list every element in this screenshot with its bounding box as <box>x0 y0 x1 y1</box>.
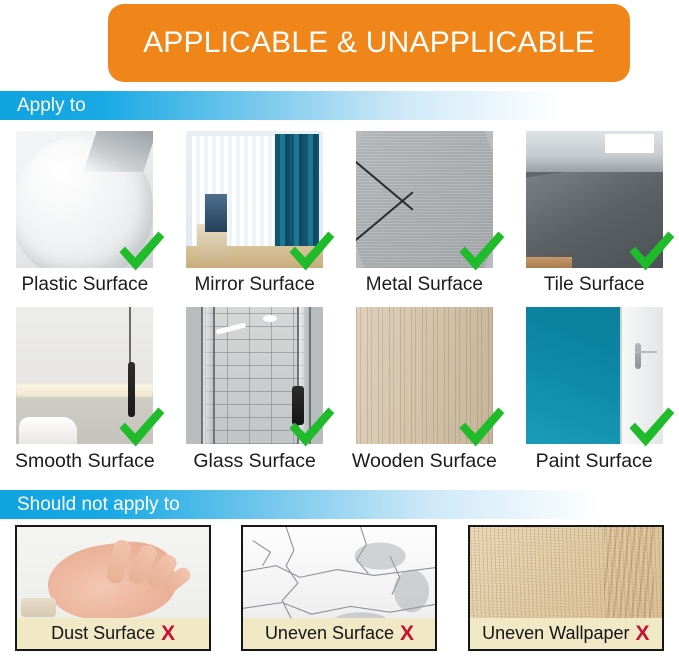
apply-item-label: Smooth Surface <box>15 450 155 473</box>
apply-item-label: Glass Surface <box>193 450 315 473</box>
red-x-icon: X <box>636 623 650 644</box>
should-not-apply-label: Should not apply to <box>0 494 180 516</box>
tile-wrap <box>526 131 663 268</box>
metal-surface-image <box>356 131 493 268</box>
mirror-surface-image <box>186 131 323 268</box>
should-not-apply-section-bar: Should not apply to <box>0 490 600 519</box>
apply-grid-row-1: Plastic Surface Mirror Surface <box>0 131 679 296</box>
apply-item-label: Tile Surface <box>544 274 645 296</box>
apply-item-tile-surface: Tile Surface <box>514 131 674 296</box>
apply-item-mirror-surface: Mirror Surface <box>175 131 335 296</box>
page-title: APPLICABLE & UNAPPLICABLE <box>143 26 595 60</box>
not-apply-item-label: Uneven Wallpaper <box>482 623 629 644</box>
apply-item-label: Metal Surface <box>366 274 483 296</box>
not-apply-item-uneven-wallpaper: Uneven Wallpaper X <box>468 525 664 651</box>
tile-wrap <box>356 131 493 268</box>
not-apply-grid: Dust Surface X <box>0 525 679 651</box>
plastic-surface-image <box>16 131 153 268</box>
apply-item-plastic-surface: Plastic Surface <box>5 131 165 296</box>
paint-surface-image <box>526 307 663 444</box>
apply-item-metal-surface: Metal Surface <box>344 131 504 296</box>
tile-wrap <box>186 307 323 444</box>
not-apply-item-uneven-surface: Uneven Surface X <box>241 525 437 651</box>
tile-surface-image <box>526 131 663 268</box>
not-apply-label-bar: Uneven Wallpaper X <box>470 618 662 649</box>
title-banner: APPLICABLE & UNAPPLICABLE <box>108 4 630 82</box>
tile-wrap <box>16 131 153 268</box>
apply-item-glass-surface: Glass Surface <box>175 307 335 473</box>
not-apply-item-label: Uneven Surface <box>265 623 394 644</box>
apply-item-wooden-surface: Wooden Surface <box>344 307 504 473</box>
apply-item-label: Plastic Surface <box>22 274 149 296</box>
apply-to-section-bar: Apply to <box>0 91 560 120</box>
tile-wrap <box>186 131 323 268</box>
red-x-icon: X <box>400 623 414 644</box>
apply-grid-row-2: Smooth Surface Glass Surface Wooden <box>0 307 679 473</box>
not-apply-label-bar: Uneven Surface X <box>243 618 435 649</box>
apply-to-label: Apply to <box>0 95 86 117</box>
apply-item-label: Wooden Surface <box>352 450 497 473</box>
apply-item-label: Mirror Surface <box>194 274 314 296</box>
glass-surface-image <box>186 307 323 444</box>
wooden-surface-image <box>356 307 493 444</box>
apply-item-label: Paint Surface <box>536 450 653 473</box>
not-apply-item-label: Dust Surface <box>51 623 155 644</box>
tile-wrap <box>526 307 663 444</box>
apply-item-paint-surface: Paint Surface <box>514 307 674 473</box>
tile-wrap <box>16 307 153 444</box>
not-apply-item-dust-surface: Dust Surface X <box>15 525 211 651</box>
not-apply-label-bar: Dust Surface X <box>17 618 209 649</box>
tile-wrap <box>356 307 493 444</box>
red-x-icon: X <box>161 623 175 644</box>
apply-item-smooth-surface: Smooth Surface <box>5 307 165 473</box>
smooth-surface-image <box>16 307 153 444</box>
